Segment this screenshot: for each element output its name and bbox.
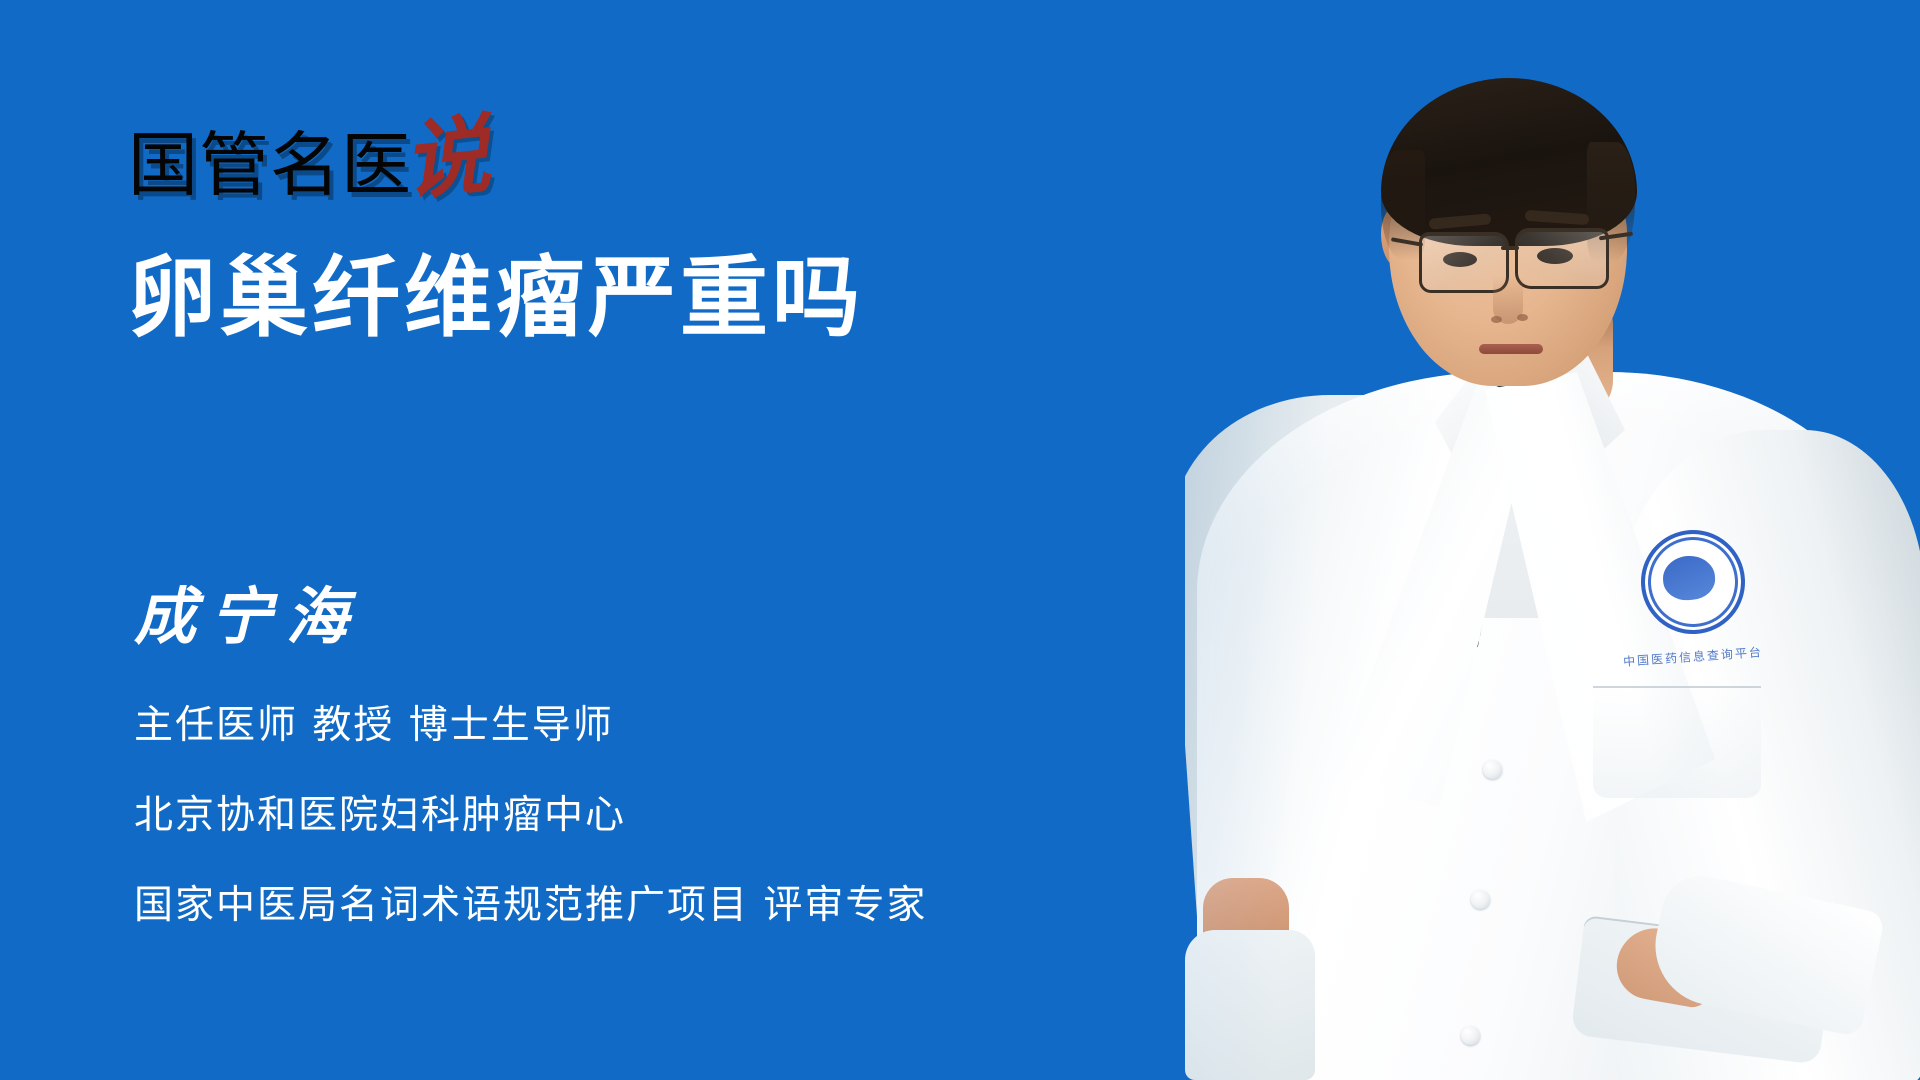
brand-logo: 国管名医 说 bbox=[128, 108, 490, 200]
doctor-portrait-photo: 中国医药信息查询平台 bbox=[1185, 0, 1920, 1080]
right-nostril bbox=[1517, 314, 1528, 321]
eyeglasses-bridge bbox=[1501, 246, 1519, 250]
doctor-name: 成宁海 bbox=[134, 578, 362, 656]
brand-logo-accent-text: 说 bbox=[400, 120, 493, 199]
lab-coat-button bbox=[1483, 760, 1502, 779]
lab-coat-left-cuff bbox=[1185, 930, 1315, 1080]
video-cover-slide: 国管名医 说 卵巢纤维瘤严重吗 成宁海 主任医师 教授 博士生导师 北京协和医院… bbox=[0, 0, 1920, 1080]
page-title: 卵巢纤维瘤严重吗 bbox=[128, 246, 864, 350]
lab-coat-chest-pocket bbox=[1593, 686, 1761, 798]
eyeglasses-right-lens bbox=[1515, 228, 1609, 289]
left-nostril bbox=[1491, 316, 1502, 323]
lab-coat-button bbox=[1471, 890, 1490, 909]
lab-coat-button bbox=[1461, 1026, 1480, 1045]
mouth bbox=[1479, 344, 1543, 354]
brand-logo-main-text: 国管名医 bbox=[128, 130, 412, 200]
credential-line-affiliation: 北京协和医院妇科肿瘤中心 bbox=[134, 793, 927, 839]
credential-line-title: 主任医师 教授 博士生导师 bbox=[134, 703, 927, 749]
credential-line-project: 国家中医局名词术语规范推广项目 评审专家 bbox=[134, 883, 927, 929]
doctor-credentials: 主任医师 教授 博士生导师 北京协和医院妇科肿瘤中心 国家中医局名词术语规范推广… bbox=[134, 703, 927, 929]
